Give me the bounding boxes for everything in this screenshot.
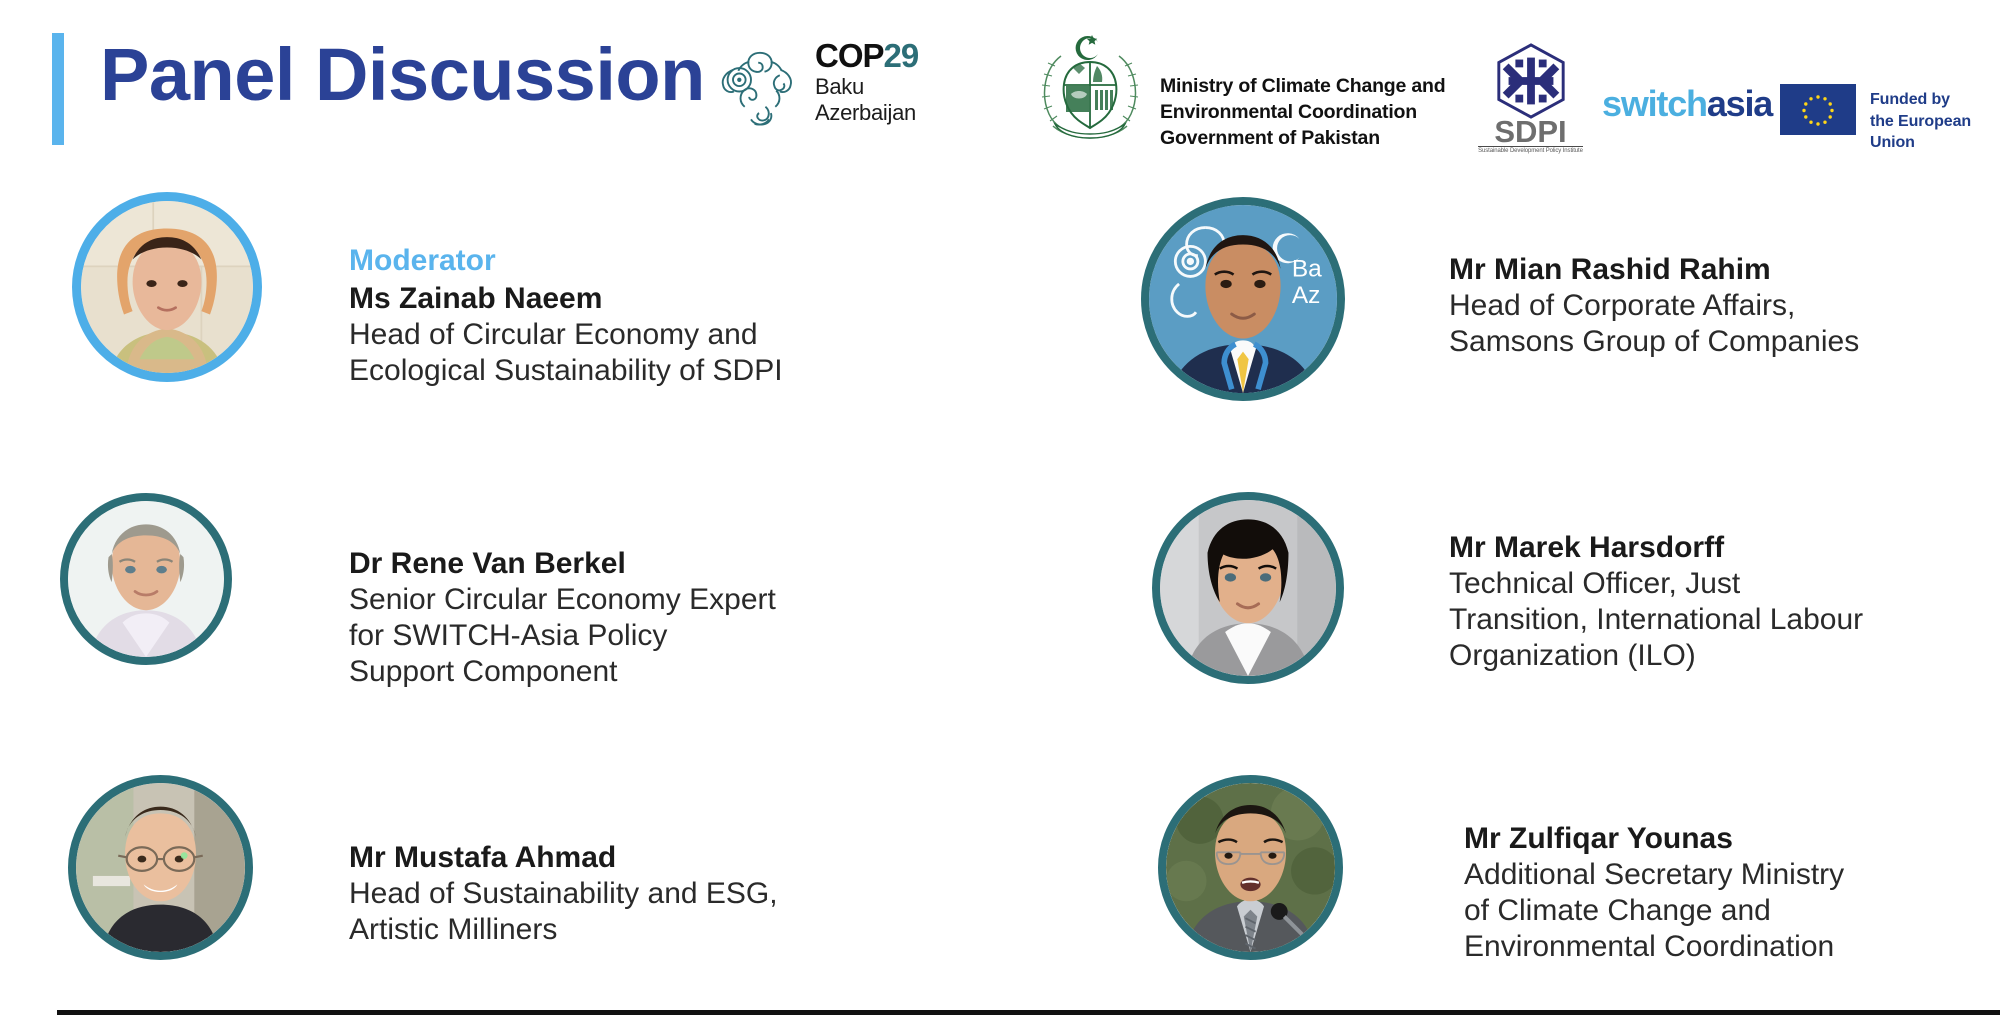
pakistan-state-emblem-icon [1035, 28, 1145, 140]
panelist-title: Technical Officer, Just Transition, Inte… [1449, 566, 2000, 674]
panelist-name: Ms Zainab Naeem [349, 280, 949, 317]
panelist-role: Moderator [349, 243, 949, 279]
panelist-info-mian-rashid-rahim: Mr Mian Rashid Rahim Head of Corporate A… [1449, 251, 2000, 360]
switchasia-asia-text: asia [1707, 83, 1772, 124]
cop29-wordmark: COP29 Baku Azerbaijan [815, 38, 918, 126]
avatar-mian-rashid-rahim: Ba Az [1141, 197, 1345, 401]
slide-root: Panel Discussion [0, 0, 2000, 1023]
cop29-emblem-icon [715, 42, 805, 132]
ministry-of-climate-change-logo: Ministry of Climate Change and Environme… [1035, 28, 1475, 143]
cop29-logo: COP29 Baku Azerbaijan [715, 38, 945, 138]
page-title: Panel Discussion [100, 38, 705, 112]
sdpi-logo: SDPI Sustainable Development Policy Inst… [1478, 42, 1583, 157]
switchasia-wordmark: switchasia [1602, 86, 1772, 122]
cop29-number-text: 29 [884, 37, 919, 74]
sdpi-acronym-text: SDPI [1478, 116, 1583, 147]
panelist-name: Mr Zulfiqar Younas [1464, 820, 2000, 857]
panelist-name: Mr Marek Harsdorff [1449, 529, 2000, 566]
avatar-zulfiqar-younas [1158, 775, 1343, 960]
eu-funding-line-2: the European Union [1870, 111, 1992, 154]
eu-funding-line-1: Funded by [1870, 89, 1992, 111]
panelist-info-zainab-naeem: Moderator Ms Zainab Naeem Head of Circul… [349, 243, 949, 389]
panelist-title: Senior Circular Economy Expert for SWITC… [349, 582, 949, 690]
avatar-mustafa-ahmad [68, 775, 253, 960]
panelist-info-mustafa-ahmad: Mr Mustafa Ahmad Head of Sustainability … [349, 839, 949, 948]
panelist-title: Additional Secretary Ministry of Climate… [1464, 857, 2000, 965]
panelist-name: Mr Mustafa Ahmad [349, 839, 949, 876]
slide-header: Panel Discussion [0, 0, 2000, 165]
avatar-zainab-naeem [72, 192, 262, 382]
panelist-name: Mr Mian Rashid Rahim [1449, 251, 2000, 288]
eu-funding-text: Funded by the European Union [1870, 89, 1992, 154]
switchasia-eu-logos: switchasia Funded by the Eu [1602, 86, 1992, 136]
avatar-rene-van-berkel [60, 493, 232, 665]
panelist-info-rene-van-berkel: Dr Rene Van Berkel Senior Circular Econo… [349, 545, 949, 690]
panelist-title: Head of Corporate Affairs, Samsons Group… [1449, 288, 2000, 360]
panelist-info-marek-harsdorff: Mr Marek Harsdorff Technical Officer, Ju… [1449, 529, 2000, 674]
ministry-name-text: Ministry of Climate Change and Environme… [1160, 74, 1445, 152]
title-accent-bar [52, 33, 64, 145]
cop29-country-text: Azerbaijan [815, 100, 918, 126]
ministry-line-1: Ministry of Climate Change and [1160, 74, 1445, 100]
switchasia-switch-text: switch [1602, 83, 1707, 124]
panelist-info-zulfiqar-younas: Mr Zulfiqar Younas Additional Secretary … [1464, 820, 2000, 965]
panelist-title: Head of Sustainability and ESG, Artistic… [349, 876, 949, 948]
ministry-line-2: Environmental Coordination [1160, 100, 1445, 126]
svg-text:Ba: Ba [1292, 255, 1322, 282]
cop29-city-text: Baku [815, 74, 918, 100]
svg-text:Az: Az [1292, 282, 1321, 309]
ministry-line-3: Government of Pakistan [1160, 126, 1445, 152]
bottom-divider [57, 1010, 2000, 1015]
cop29-cop-text: COP [815, 37, 884, 74]
avatar-marek-harsdorff [1152, 492, 1344, 684]
eu-flag-icon [1780, 84, 1856, 135]
sdpi-hexagon-icon [1492, 42, 1570, 118]
sdpi-full-name-text: Sustainable Development Policy Institute [1478, 146, 1583, 154]
panelist-name: Dr Rene Van Berkel [349, 545, 949, 582]
panelist-title: Head of Circular Economy and Ecological … [349, 317, 949, 389]
